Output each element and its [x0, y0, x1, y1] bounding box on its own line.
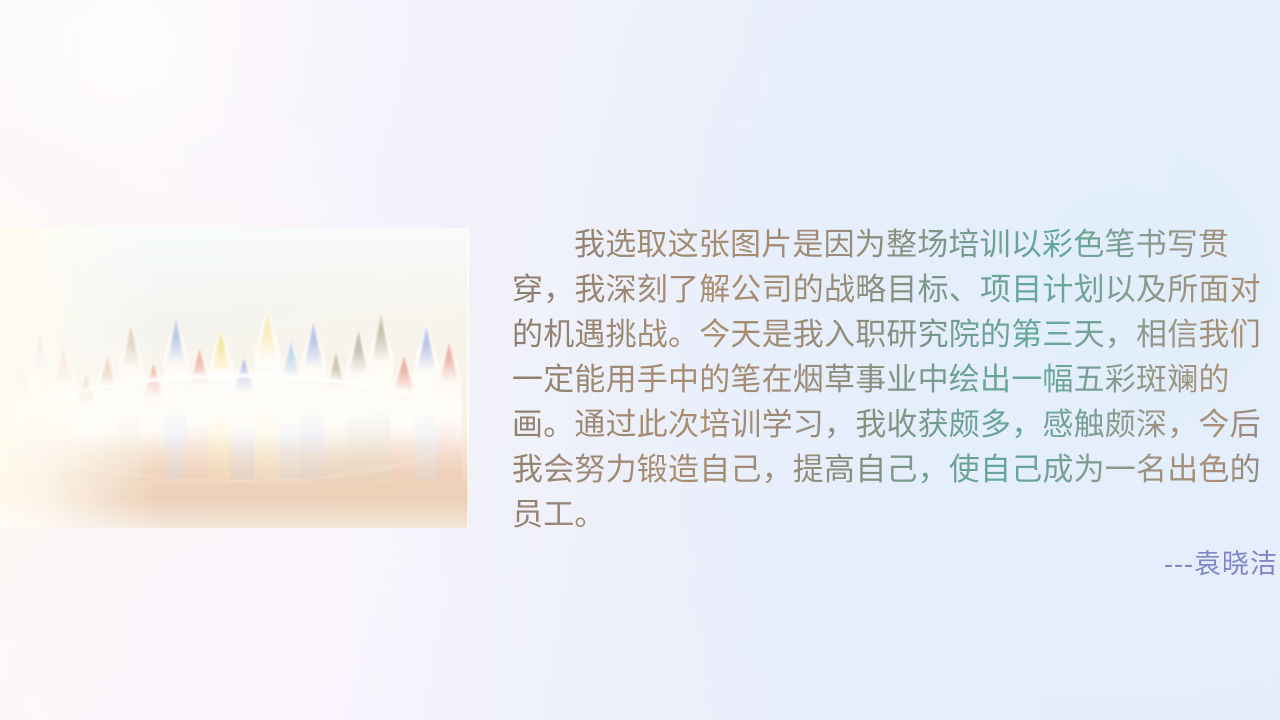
- photo-wash-overlay: [0, 228, 469, 528]
- photo-right-edge: [467, 228, 469, 528]
- text-block: 我选取这张图片是因为整场培训以彩色笔书写贯穿，我深刻了解公司的战略目标、项目计划…: [512, 222, 1280, 581]
- photo-bottom-fade: [0, 498, 469, 528]
- colored-pencils-photo: [0, 228, 469, 528]
- author-signature: ---袁晓洁: [512, 547, 1280, 581]
- presentation-slide: 我选取这张图片是因为整场培训以彩色笔书写贯穿，我深刻了解公司的战略目标、项目计划…: [0, 0, 1280, 720]
- body-paragraph: 我选取这张图片是因为整场培训以彩色笔书写贯穿，我深刻了解公司的战略目标、项目计划…: [512, 222, 1280, 537]
